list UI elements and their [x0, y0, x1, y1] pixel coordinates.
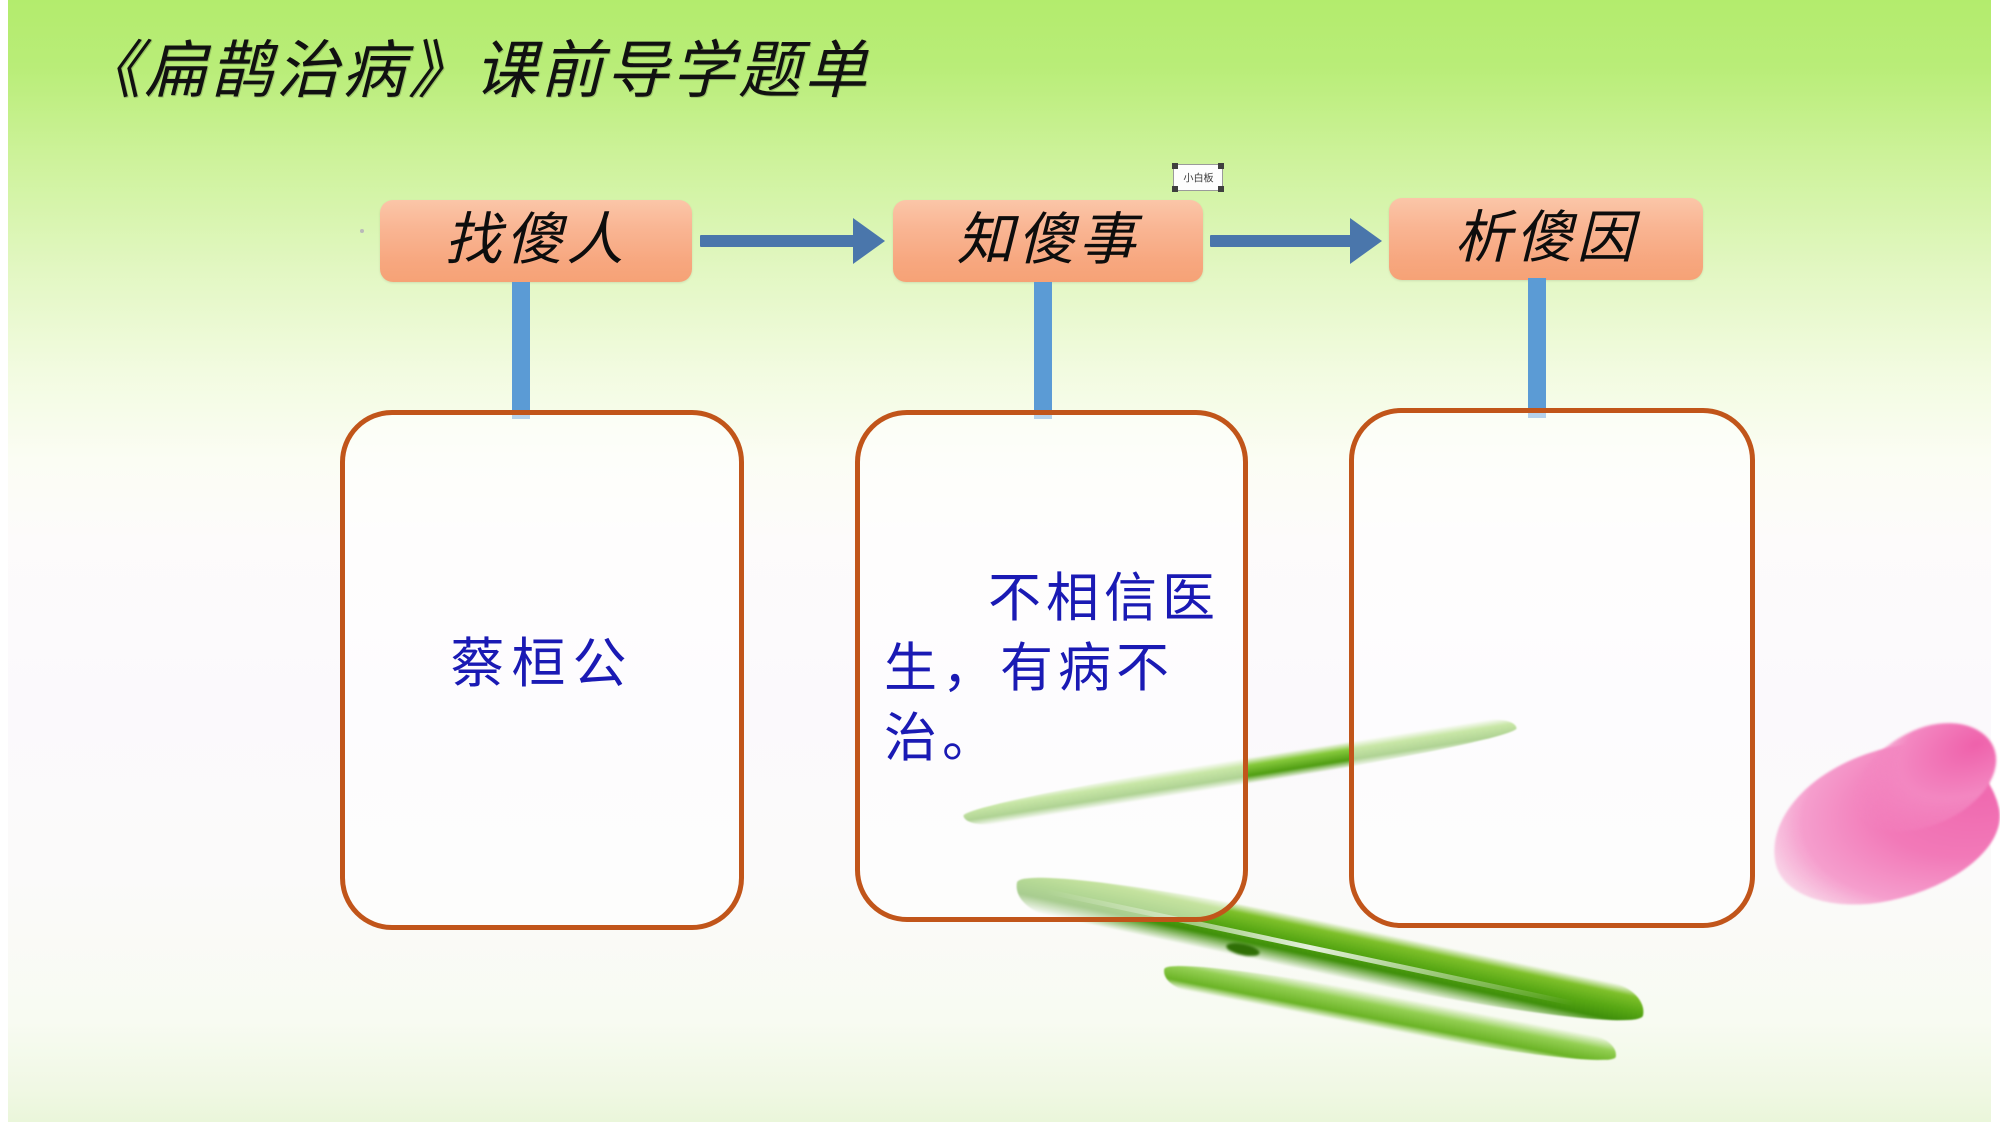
flow-step-label-析傻因[interactable]: 析傻因: [1389, 198, 1703, 280]
arrow-head-icon: [1350, 218, 1382, 264]
answer-box-step3[interactable]: [1349, 408, 1755, 928]
flow-step-label-text: 找傻人: [445, 212, 628, 269]
flow-step-label-找傻人[interactable]: 找傻人: [380, 200, 692, 282]
flow-step-label-知傻事[interactable]: 知傻事: [893, 200, 1203, 282]
flow-arrow-step1-to-step2: [700, 218, 885, 264]
flow-arrow-step2-to-step3: [1210, 218, 1382, 264]
connector-step3-to-answer3: [1528, 278, 1546, 418]
flow-step-label-text: 析傻因: [1455, 210, 1638, 267]
arrow-shaft: [700, 235, 855, 247]
whiteboard-object-tag[interactable]: 小白板: [1173, 164, 1223, 191]
selection-handle-bottom-left[interactable]: [1172, 186, 1178, 192]
connector-step2-to-answer2: [1034, 282, 1052, 419]
flow-step-label-text: 知傻事: [957, 212, 1140, 269]
connector-step1-to-answer1: [512, 282, 530, 419]
stray-dot-artifact: [360, 229, 364, 233]
whiteboard-object-tag-label: 小白板: [1183, 170, 1213, 185]
slide-title: 《扁鹊治病》课前导学题单: [78, 35, 870, 107]
arrow-head-icon: [853, 218, 885, 264]
selection-handle-top-right[interactable]: [1218, 163, 1224, 169]
selection-handle-bottom-right[interactable]: [1218, 186, 1224, 192]
slide-canvas: 《扁鹊治病》课前导学题单 找傻人 知傻事 析傻因 蔡桓公 不相信医生，有病不治。…: [0, 0, 2000, 1125]
selection-handle-top-left[interactable]: [1172, 163, 1178, 169]
answer-text-step2: 不相信医生，有病不治。: [884, 565, 1244, 775]
answer-text-step1: 蔡桓公: [340, 635, 744, 694]
arrow-shaft: [1210, 235, 1352, 247]
